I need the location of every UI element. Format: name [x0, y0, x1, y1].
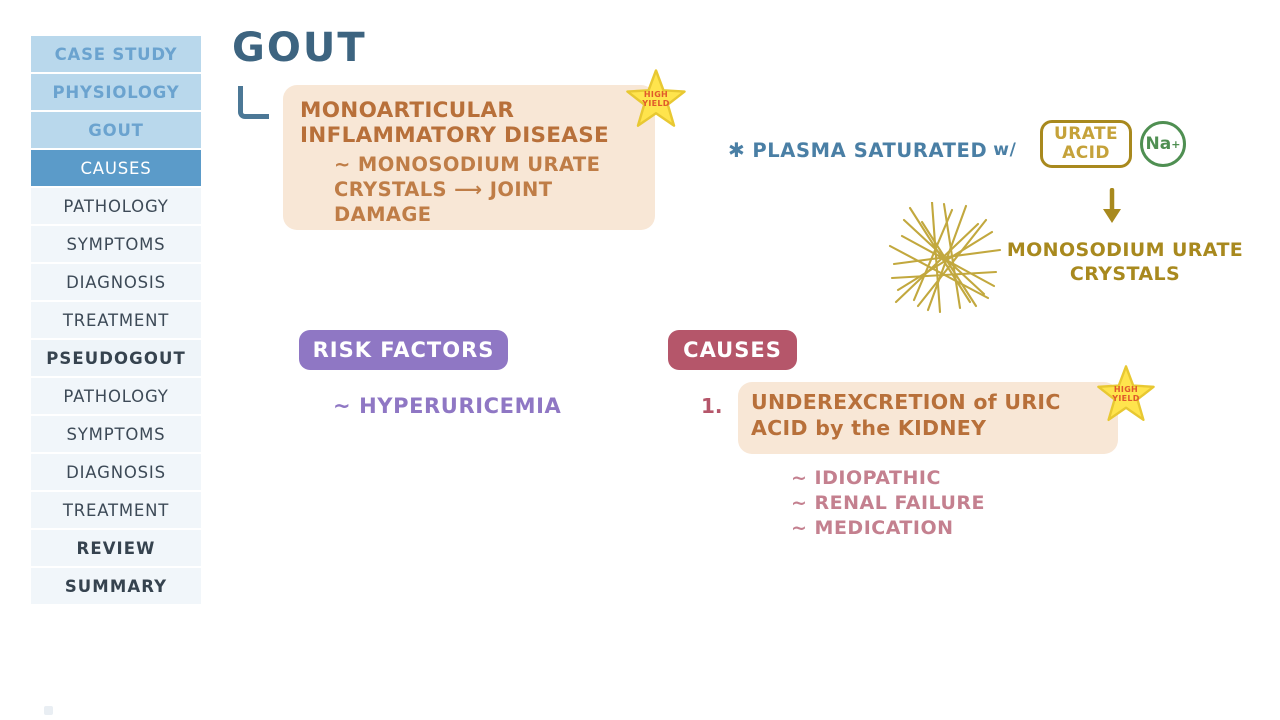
sidebar-item-label: TREATMENT	[63, 501, 169, 520]
sidebar-item-review[interactable]: REVIEW	[31, 530, 201, 566]
cause-title-line2-a: ACID	[751, 416, 815, 440]
sidebar-item-label: PHYSIOLOGY	[53, 83, 180, 102]
high-yield-star-label: HIGH YIELD	[642, 90, 669, 108]
sidebar-item-case-study[interactable]: CASE STUDY	[31, 36, 201, 72]
msu-line1: MONOSODIUM URATE	[1007, 239, 1243, 261]
msu-line2: CRYSTALS	[1070, 263, 1180, 285]
cause-sub-item: ~ IDIOPATHIC	[791, 466, 985, 491]
cause-sub-items: ~ IDIOPATHIC~ RENAL FAILURE~ MEDICATION	[791, 466, 985, 541]
urate-acid-badge: URATE ACID	[1040, 120, 1132, 168]
cause-number: 1.	[701, 394, 723, 418]
cause-title-line1-a: UNDEREXCRETION	[751, 390, 973, 414]
sodium-charge: +	[1171, 138, 1180, 151]
definition-bullet-line3: DAMAGE	[334, 203, 432, 226]
star2-line1: HIGH	[1114, 385, 1138, 394]
sidebar-item-pathology[interactable]: PATHOLOGY	[31, 188, 201, 224]
urate-crystal-needles-icon	[888, 202, 1008, 314]
sidebar-item-treatment[interactable]: TREATMENT	[31, 492, 201, 528]
cause-title-line2-c: KIDNEY	[890, 416, 986, 440]
sidebar-item-pseudogout[interactable]: PSEUDOGOUT	[31, 340, 201, 376]
sidebar-item-label: CASE STUDY	[55, 45, 178, 64]
slide-canvas: CASE STUDYPHYSIOLOGYGOUTCAUSESPATHOLOGYS…	[0, 0, 1280, 720]
sidebar-item-label: SYMPTOMS	[67, 425, 166, 444]
sidebar-item-label: PATHOLOGY	[63, 197, 168, 216]
high-yield-star-icon: HIGH YIELD	[625, 68, 687, 130]
sidebar-item-summary[interactable]: SUMMARY	[31, 568, 201, 604]
definition-heading-line1: MONOARTICULAR	[300, 98, 514, 123]
plasma-with-label: w/	[993, 140, 1016, 160]
definition-heading: MONOARTICULAR INFLAMMATORY DISEASE	[300, 98, 650, 148]
star-line2: YIELD	[642, 99, 669, 108]
risk-factors-badge: RISK FACTORS	[299, 330, 508, 370]
sidebar-item-label: SUMMARY	[65, 577, 167, 596]
msu-crystals-label: MONOSODIUM URATE CRYSTALS	[1000, 238, 1250, 286]
plasma-statement-text: PLASMA SATURATED	[752, 139, 987, 162]
sidebar-item-label: DIAGNOSIS	[66, 273, 166, 292]
bracket-connector-icon	[238, 86, 269, 119]
sodium-label: Na	[1146, 134, 1172, 154]
sidebar-item-physiology[interactable]: PHYSIOLOGY	[31, 74, 201, 110]
risk-factor-item: ~ HYPERURICEMIA	[333, 394, 561, 418]
cause-title-line2-b: by the	[815, 416, 890, 440]
sidebar-item-symptoms[interactable]: SYMPTOMS	[31, 416, 201, 452]
definition-bullet-line1: ~ MONOSODIUM URATE	[334, 153, 600, 176]
sidebar-item-pathology[interactable]: PATHOLOGY	[31, 378, 201, 414]
sidebar-item-label: REVIEW	[77, 539, 156, 558]
sidebar-item-gout[interactable]: GOUT	[31, 112, 201, 148]
sidebar-item-treatment[interactable]: TREATMENT	[31, 302, 201, 338]
cause-sub-item: ~ RENAL FAILURE	[791, 491, 985, 516]
plasma-statement: ✱ PLASMA SATURATED w/	[728, 138, 1016, 162]
corner-artifact	[44, 706, 53, 715]
asterisk-icon: ✱	[728, 138, 745, 162]
definition-bullet-line2: CRYSTALS ⟶ JOINT	[334, 178, 552, 201]
cause-title: UNDEREXCRETION of URIC ACID by the KIDNE…	[751, 389, 1101, 441]
urate-acid-line2: ACID	[1062, 144, 1110, 163]
causes-badge: CAUSES	[668, 330, 797, 370]
sidebar-item-diagnosis[interactable]: DIAGNOSIS	[31, 264, 201, 300]
sidebar-item-label: CAUSES	[80, 159, 151, 178]
sidebar-nav: CASE STUDYPHYSIOLOGYGOUTCAUSESPATHOLOGYS…	[31, 36, 201, 606]
sidebar-item-causes[interactable]: CAUSES	[31, 150, 201, 186]
down-arrow-icon	[1098, 188, 1126, 226]
star2-line2: YIELD	[1112, 394, 1139, 403]
star-line1: HIGH	[644, 90, 668, 99]
sidebar-item-label: TREATMENT	[63, 311, 169, 330]
sidebar-item-label: PSEUDOGOUT	[46, 349, 186, 368]
urate-acid-line1: URATE	[1054, 125, 1118, 144]
high-yield-star-icon-2: HIGH YIELD	[1096, 364, 1156, 424]
cause-title-line1-c: URIC	[997, 390, 1061, 414]
cause-sub-item: ~ MEDICATION	[791, 516, 985, 541]
sidebar-item-diagnosis[interactable]: DIAGNOSIS	[31, 454, 201, 490]
cause-title-line1-b: of	[973, 390, 997, 414]
sidebar-item-label: GOUT	[88, 121, 143, 140]
sidebar-item-label: PATHOLOGY	[63, 387, 168, 406]
page-title: GOUT	[232, 28, 367, 68]
sidebar-item-label: SYMPTOMS	[67, 235, 166, 254]
sidebar-item-label: DIAGNOSIS	[66, 463, 166, 482]
sodium-badge: Na+	[1140, 121, 1186, 167]
high-yield-star-label-2: HIGH YIELD	[1112, 385, 1139, 403]
definition-bullet: ~ MONOSODIUM URATE CRYSTALS ⟶ JOINT DAMA…	[334, 152, 654, 227]
sidebar-item-symptoms[interactable]: SYMPTOMS	[31, 226, 201, 262]
definition-heading-line2: INFLAMMATORY DISEASE	[300, 123, 609, 148]
